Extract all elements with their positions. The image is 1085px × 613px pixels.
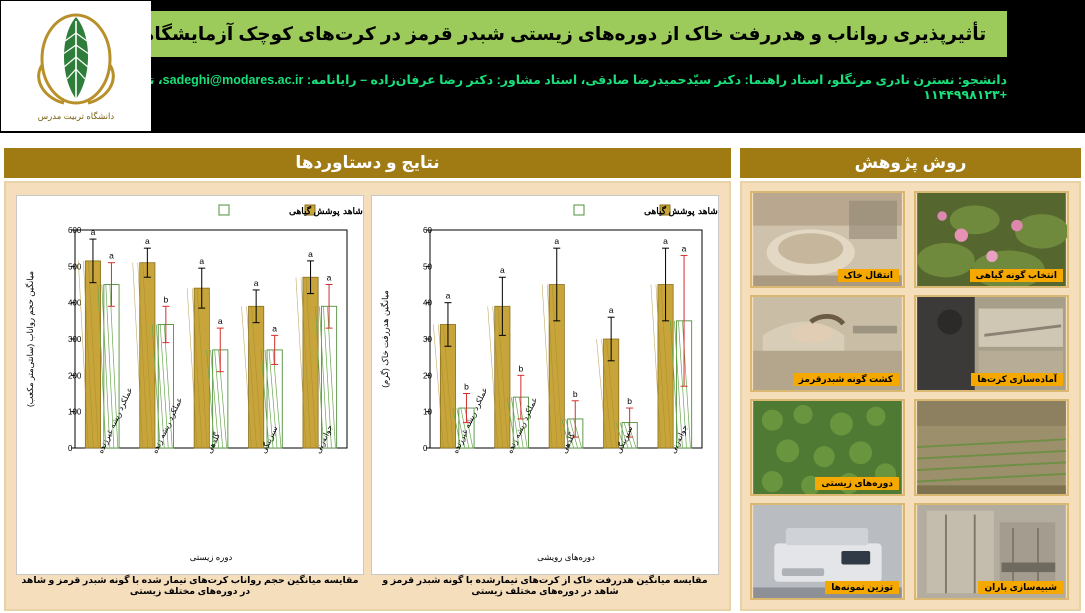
svg-text:a: a (327, 273, 332, 283)
page-title: تأثیرپذیری رواناب و هدررفت خاک از دوره‌ه… (123, 23, 986, 45)
photo-biological-periods: دوره‌های زیستی (750, 399, 905, 496)
photo-red-clover-cultivation: کشت گونه شبدرقرمز (750, 295, 905, 392)
svg-text:0: 0 (68, 444, 73, 453)
svg-text:a: a (199, 256, 204, 266)
svg-text:a: a (145, 236, 150, 246)
photo-rain-simulation: شبیه‌سازی باران (914, 503, 1069, 600)
chart-soil-loss: 0102030405060میانگین هدررفت خاک (گرم)aaج… (371, 195, 719, 575)
svg-text:شاهد: شاهد (698, 206, 718, 216)
svg-text:a: a (254, 278, 259, 288)
svg-text:b: b (163, 294, 168, 304)
photo-caption: دوره‌های زیستی (815, 477, 899, 490)
results-panel: 0102030405060میانگین هدررفت خاک (گرم)aaج… (4, 181, 731, 611)
university-logo: دانشگاه تربیت مدرس (1, 1, 151, 131)
svg-text:دوره زیستی: دوره زیستی (190, 552, 233, 563)
svg-text:500: 500 (68, 262, 82, 271)
chart-soil-loss-caption: مقایسه میانگین هدررفت خاک از کرت‌های تیم… (371, 575, 719, 597)
photo-plot-preparation: آماده‌سازی کرت‌ها (914, 295, 1069, 392)
svg-text:a: a (500, 265, 505, 275)
photo-caption: توزین نمونه‌ها (825, 581, 899, 594)
svg-text:0: 0 (423, 444, 428, 453)
photo-caption: شبیه‌سازی باران (978, 581, 1063, 594)
svg-text:پوشش گیاهی: پوشش گیاهی (289, 205, 340, 217)
svg-text:شاهد: شاهد (343, 206, 363, 216)
svg-text:a: a (446, 291, 451, 301)
photo-sample-weighing: توزین نمونه‌ها (750, 503, 905, 600)
svg-text:b: b (573, 389, 578, 399)
svg-text:10: 10 (423, 408, 432, 417)
svg-text:400: 400 (68, 299, 82, 308)
svg-text:پوشش گیاهی: پوشش گیاهی (644, 205, 695, 217)
seedbed-image (916, 401, 1067, 494)
photo-seedbed (914, 399, 1069, 496)
svg-text:300: 300 (68, 335, 82, 344)
svg-text:60: 60 (423, 226, 432, 235)
svg-text:a: a (109, 251, 114, 261)
svg-text:a: a (218, 316, 223, 326)
svg-text:100: 100 (68, 408, 82, 417)
svg-text:a: a (609, 305, 614, 315)
svg-text:200: 200 (68, 371, 82, 380)
svg-text:50: 50 (423, 262, 432, 271)
photo-plant-selection: انتخاب گونه گیاهی (914, 191, 1069, 288)
svg-text:a: a (272, 323, 277, 333)
photo-soil-transfer: انتقال خاک (750, 191, 905, 288)
section-header-method: روش پژوهش (740, 148, 1081, 178)
svg-text:a: a (308, 249, 313, 259)
svg-text:a: a (91, 227, 96, 237)
svg-text:b: b (518, 363, 523, 373)
svg-text:a: a (554, 236, 559, 246)
section-header-results: نتایج و دستاوردها (4, 148, 731, 178)
photo-caption: انتقال خاک (838, 269, 899, 282)
photo-caption: انتخاب گونه گیاهی (970, 269, 1063, 282)
svg-text:a: a (682, 243, 687, 253)
svg-text:20: 20 (423, 371, 432, 380)
svg-text:b: b (627, 396, 632, 406)
svg-text:میانگین هدررفت خاک (گرم): میانگین هدررفت خاک (گرم) (379, 290, 391, 388)
svg-text:40: 40 (423, 299, 432, 308)
poster-header: تأثیرپذیری رواناب و هدررفت خاک از دوره‌ه… (0, 0, 1085, 133)
chart-runoff-caption: مقایسه میانگین حجم رواناب کرت‌های تیمار … (16, 575, 364, 597)
svg-text:30: 30 (423, 335, 432, 344)
authors-line: دانشجو: نسترن نادری مرنگلو، استاد راهنما… (102, 70, 1007, 104)
svg-text:دوره‌های رویشی: دوره‌های رویشی (537, 552, 595, 563)
chart-soil-loss-svg: 0102030405060میانگین هدررفت خاک (گرم)aaج… (372, 196, 718, 574)
svg-text:میانگین حجم رواناب (سانتی‌متر: میانگین حجم رواناب (سانتی‌متر مکعب) (24, 271, 36, 408)
poster-title-band: تأثیرپذیری رواناب و هدررفت خاک از دوره‌ه… (102, 11, 1007, 57)
logo-icon: دانشگاه تربیت مدرس (1, 1, 151, 131)
svg-text:a: a (663, 236, 668, 246)
chart-runoff: 0100200300400500600میانگین حجم رواناب (س… (16, 195, 364, 575)
svg-text:600: 600 (68, 226, 82, 235)
svg-text:b: b (464, 382, 469, 392)
method-panel: انتقال خاک انتخاب گونه گیاهی کشت گونه شب… (740, 181, 1081, 611)
photo-caption: آماده‌سازی کرت‌ها (971, 373, 1063, 386)
photo-caption: کشت گونه شبدرقرمز (793, 373, 899, 386)
svg-text:دانشگاه تربیت مدرس: دانشگاه تربیت مدرس (38, 110, 115, 122)
chart-runoff-svg: 0100200300400500600میانگین حجم رواناب (س… (17, 196, 363, 574)
